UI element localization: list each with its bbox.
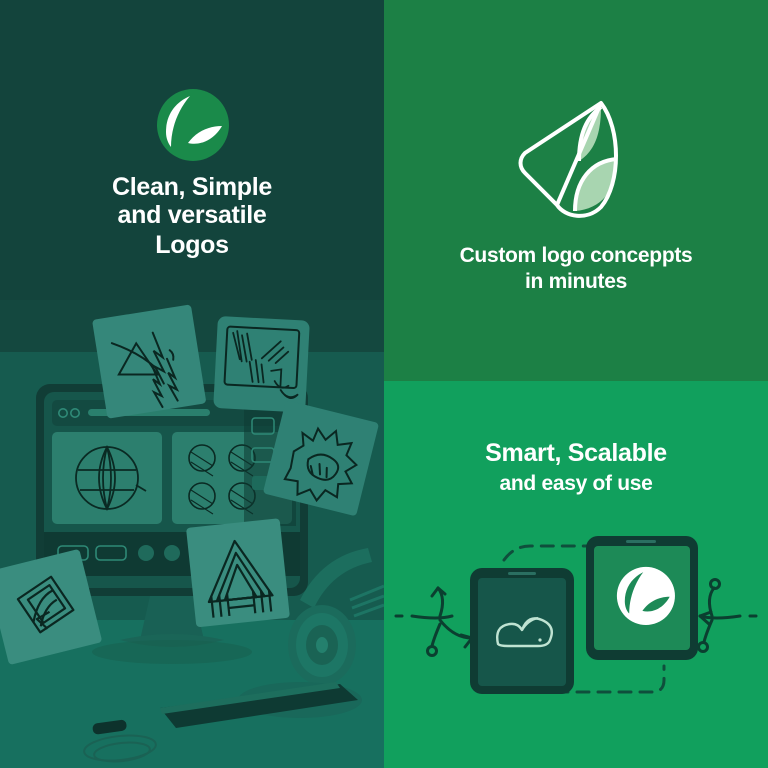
poster-canvas: Clean, Simple and versatile Logos Custom… [0,0,768,768]
panel-left: Clean, Simple and versatile Logos [0,0,384,768]
sketch-card-frame [213,316,310,413]
arrow-left-inbound [396,588,472,656]
leaf-circle-logo-icon [617,567,675,625]
sketch-card-house-mark [186,518,290,627]
br-heading-line-2: and easy of use [384,471,768,496]
left-heading-line-2: and versatile [0,201,384,229]
tablet-light[interactable] [586,536,698,660]
tr-heading-line-2: in minutes [384,269,768,295]
left-heading-line-3: Logos [0,231,384,259]
arrow-right-inbound [699,580,757,652]
leaf-circle-logo-icon [156,88,230,162]
desktop-workspace-illustration [0,300,384,768]
left-heading-line-1: Clean, Simple [0,173,384,201]
top-right-heading: Custom logo conceppts in minutes [384,243,768,296]
bottom-right-heading: Smart, Scalable and easy of use [384,438,768,496]
tablet-dark[interactable] [470,568,574,694]
tr-heading-line-1: Custom logo conceppts [384,243,768,269]
br-heading-line-1: Smart, Scalable [384,438,768,468]
geometric-leaf-outline-icon [505,85,645,225]
sketch-card-scribble [92,304,206,418]
left-panel-heading: Clean, Simple and versatile Logos [0,173,384,259]
two-tablets-illustration [384,520,768,720]
